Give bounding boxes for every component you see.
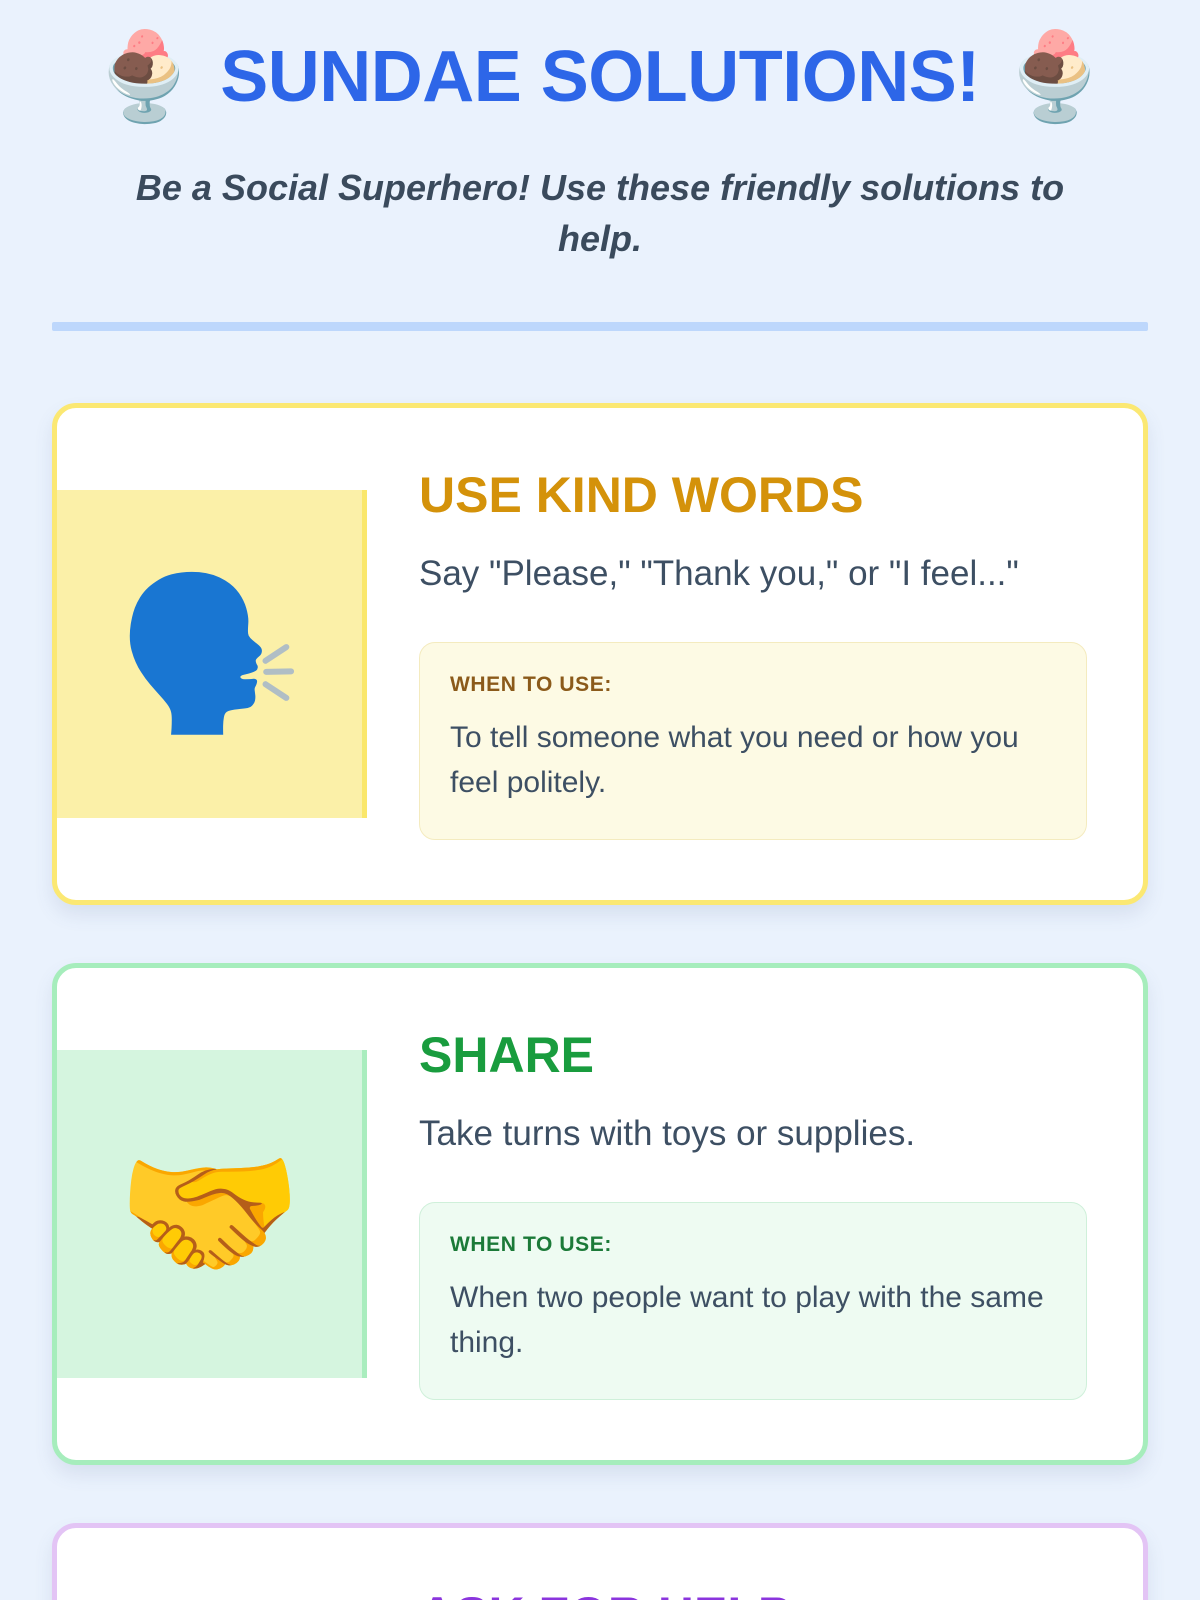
solution-card[interactable]: 🙋 ASK FOR HELP WHEN TO USE: bbox=[52, 1523, 1148, 1600]
when-to-use-label: WHEN TO USE: bbox=[450, 1233, 1056, 1257]
card-heading: SHARE bbox=[419, 1028, 1087, 1083]
header-divider bbox=[52, 322, 1148, 331]
card-icon-panel: 🤝 bbox=[57, 1050, 367, 1378]
card-icon-panel: 🗣️ bbox=[57, 490, 367, 818]
when-to-use-box: WHEN TO USE: When two people want to pla… bbox=[419, 1202, 1087, 1400]
card-heading: ASK FOR HELP bbox=[419, 1588, 1087, 1600]
card-body: USE KIND WORDS Say "Please," "Thank you,… bbox=[367, 408, 1143, 900]
solution-card-list: 🗣️ USE KIND WORDS Say "Please," "Thank y… bbox=[52, 403, 1148, 1600]
solution-card[interactable]: 🗣️ USE KIND WORDS Say "Please," "Thank y… bbox=[52, 403, 1148, 905]
page-subtitle: Be a Social Superhero! Use these friendl… bbox=[52, 162, 1148, 264]
title-row: 🍨 SUNDAE SOLUTIONS! 🍨 bbox=[52, 34, 1148, 120]
solution-card[interactable]: 🤝 SHARE Take turns with toys or supplies… bbox=[52, 963, 1148, 1465]
card-heading: USE KIND WORDS bbox=[419, 468, 1087, 523]
ice-cream-sundae-icon-left: 🍨 bbox=[91, 34, 198, 120]
when-to-use-label: WHEN TO USE: bbox=[450, 673, 1056, 697]
when-to-use-text: When two people want to play with the sa… bbox=[450, 1275, 1056, 1365]
poster-header: 🍨 SUNDAE SOLUTIONS! 🍨 Be a Social Superh… bbox=[52, 0, 1148, 331]
card-body: ASK FOR HELP WHEN TO USE: bbox=[367, 1528, 1143, 1600]
speaking-head-icon: 🗣️ bbox=[116, 579, 303, 729]
card-description: Take turns with toys or supplies. bbox=[419, 1109, 1087, 1160]
when-to-use-text: To tell someone what you need or how you… bbox=[450, 715, 1056, 805]
when-to-use-box: WHEN TO USE: To tell someone what you ne… bbox=[419, 642, 1087, 840]
page-title: SUNDAE SOLUTIONS! bbox=[220, 36, 980, 118]
ice-cream-sundae-icon-right: 🍨 bbox=[1002, 34, 1109, 120]
poster-page: 🍨 SUNDAE SOLUTIONS! 🍨 Be a Social Superh… bbox=[0, 0, 1200, 1600]
card-body: SHARE Take turns with toys or supplies. … bbox=[367, 968, 1143, 1460]
card-description: Say "Please," "Thank you," or "I feel...… bbox=[419, 549, 1087, 600]
handshake-icon: 🤝 bbox=[116, 1139, 303, 1289]
